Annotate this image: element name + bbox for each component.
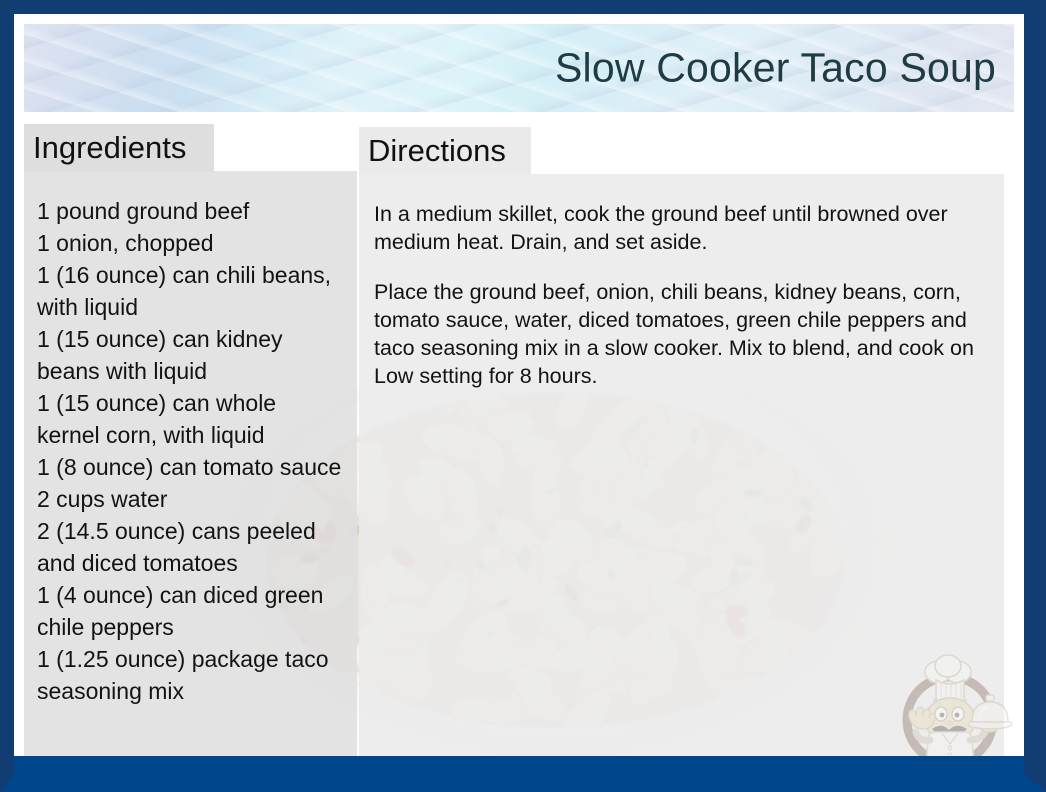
ingredient-item: 1 pound ground beef bbox=[37, 195, 345, 227]
tab-directions[interactable]: Directions bbox=[359, 127, 531, 175]
ingredient-item: 1 (15 ounce) can whole kernel corn, with… bbox=[37, 387, 345, 451]
header-band: Slow Cooker Taco Soup bbox=[24, 24, 1014, 112]
ingredient-item: 2 cups water bbox=[37, 483, 345, 515]
ingredient-item: 1 (4 ounce) can diced green chile pepper… bbox=[37, 579, 345, 643]
ingredient-item: 1 (15 ounce) can kidney beans with liqui… bbox=[37, 323, 345, 387]
direction-paragraph: Place the ground beef, onion, chili bean… bbox=[374, 278, 988, 390]
ingredient-item: 2 (14.5 ounce) cans peeled and diced tom… bbox=[37, 515, 345, 579]
page-surface: Slow Cooker Taco Soup Ingredients Direct… bbox=[14, 14, 1024, 774]
recipe-card: Slow Cooker Taco Soup Ingredients Direct… bbox=[0, 0, 1046, 792]
ingredients-panel: 1 pound ground beef 1 onion, chopped 1 (… bbox=[24, 171, 357, 774]
ingredient-item: 1 (16 ounce) can chili beans, with liqui… bbox=[37, 259, 345, 323]
directions-panel: In a medium skillet, cook the ground bee… bbox=[359, 174, 1004, 774]
tab-ingredients[interactable]: Ingredients bbox=[24, 124, 214, 172]
ingredient-item: 1 onion, chopped bbox=[37, 227, 345, 259]
ingredient-item: 1 (8 ounce) can tomato sauce bbox=[37, 451, 345, 483]
direction-paragraph: In a medium skillet, cook the ground bee… bbox=[374, 200, 988, 256]
ingredient-item: 1 (1.25 ounce) package taco seasoning mi… bbox=[37, 643, 345, 707]
page-title: Slow Cooker Taco Soup bbox=[555, 45, 996, 92]
